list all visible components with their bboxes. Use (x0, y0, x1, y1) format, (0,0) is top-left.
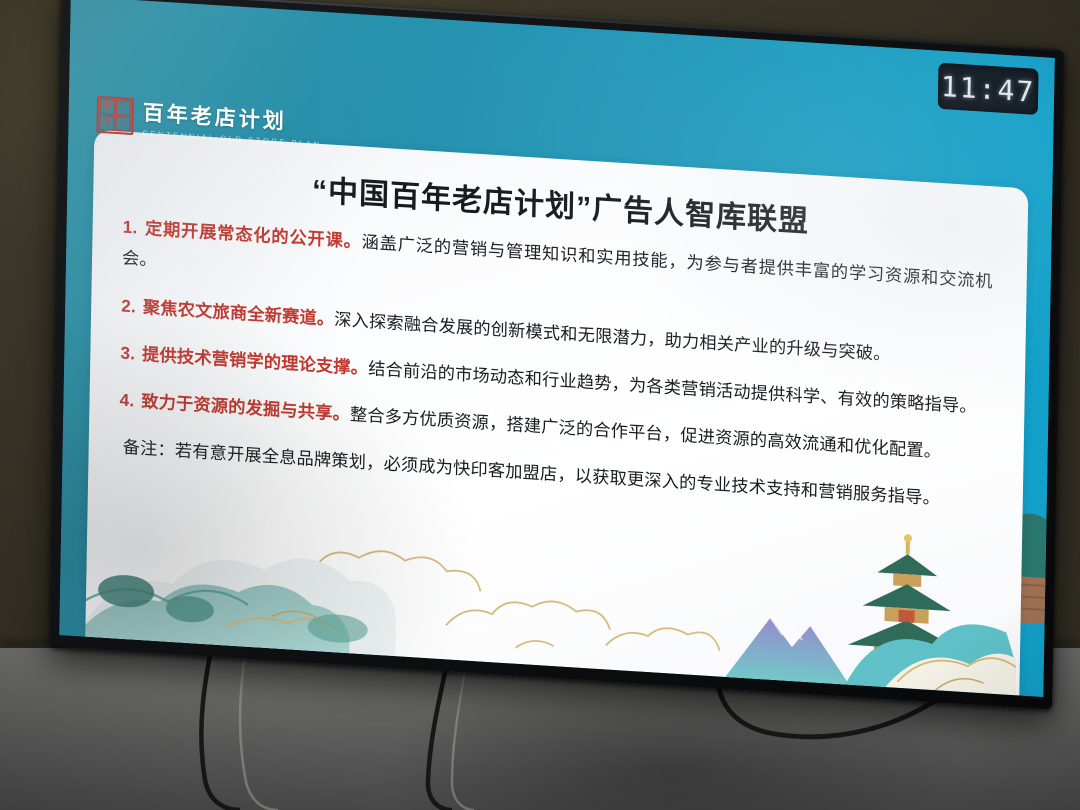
clock-widget: 11:47 (938, 63, 1039, 115)
tv-screen: 11:47 老 百 店 年 百年老店计划 CENTENNIAL OLD STOR… (59, 0, 1055, 697)
item-highlight: 致力于资源的发掘与共享。 (141, 391, 350, 424)
seal-logo-icon: 老 百 店 年 (96, 96, 134, 135)
item-number: 4. (119, 390, 134, 411)
item-number: 3. (120, 342, 135, 363)
clock-time: 11:47 (941, 69, 1036, 108)
seal-char-1: 百 (116, 100, 131, 116)
television: 11:47 老 百 店 年 百年老店计划 CENTENNIAL OLD STOR… (56, 18, 1058, 678)
seal-char-2: 店 (99, 115, 114, 131)
item-number: 2. (121, 295, 136, 316)
room-scene: 11:47 老 百 店 年 百年老店计划 CENTENNIAL OLD STOR… (0, 0, 1080, 810)
item-highlight: 定期开展常态化的公开课。 (145, 218, 362, 252)
seal-char-3: 年 (115, 116, 130, 132)
item-number: 1. (123, 217, 138, 238)
slide-card: “中国百年老店计划”广告人智库联盟 1. 定期开展常态化的公开课。涵盖广泛的营销… (85, 130, 1028, 696)
item-highlight: 提供技术营销学的理论支撑。 (142, 344, 368, 378)
seal-char-0: 老 (100, 99, 115, 115)
item-highlight: 聚焦农文旅商全新赛道。 (143, 296, 335, 328)
